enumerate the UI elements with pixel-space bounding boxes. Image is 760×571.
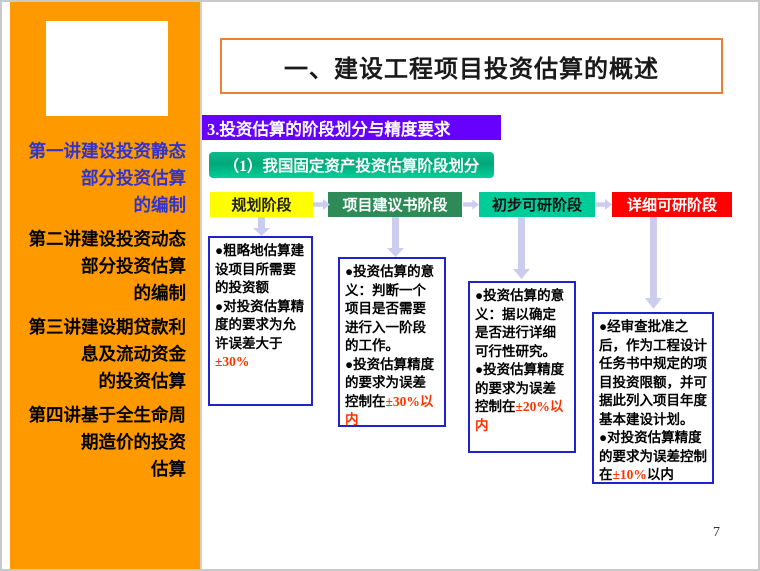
arrow-down-icon-3 [513, 217, 530, 279]
detail-line: ●对投资估算精度的要求为允许误差大于±30% [215, 298, 306, 372]
tolerance-value: ±10% [613, 467, 647, 482]
detail-line: ●投资估算精度的要求为误差控制在±20%以内 [475, 361, 569, 435]
stage-box-preliminary-study[interactable]: 初步可研阶段 [479, 192, 595, 217]
sidebar: 第一讲建设投资静态 部分投资估算 的编制 第二讲建设投资动态 部分投资估算 的编… [10, 2, 200, 571]
slide-title-box: 一、建设工程项目投资估算的概述 [220, 38, 723, 94]
section-heading-label: 3.投资估算的阶段划分与精度要求 [207, 116, 450, 140]
slide-content: 一、建设工程项目投资估算的概述 3.投资估算的阶段划分与精度要求 （1）我国固定… [202, 2, 758, 569]
arrow-down-icon-2 [387, 217, 404, 257]
arrow-down-icon-4 [645, 217, 662, 309]
arrow-right-icon-1 [313, 199, 330, 210]
detail-line: ●对投资估算精度的要求为误差控制在±10%以内 [599, 429, 707, 485]
arrow-right-icon-3 [595, 199, 612, 210]
stage-box-proposal[interactable]: 项目建议书阶段 [328, 192, 462, 217]
section-heading-banner: 3.投资估算的阶段划分与精度要求 [202, 115, 501, 140]
stage-box-planning[interactable]: 规划阶段 [210, 192, 313, 217]
detail-line: ●经审查批准之后，作为工程设计任务书中规定的项目投资限额，并可据此列入项目年度基… [599, 318, 707, 429]
detail-box-proposal: ●投资估算的意义：判断一个项目是否需要进行入一阶段的工作。 ●投资估算精度的要求… [338, 257, 446, 427]
tolerance-value: ±20% [516, 399, 550, 414]
tolerance-value: ±30% [386, 394, 420, 409]
detail-line: ●投资估算精度的要求为误差控制在±30%以内 [345, 356, 439, 430]
detail-line: ●粗略地估算建设项目所需要的投资额 [215, 242, 306, 298]
page-number: 7 [713, 525, 720, 541]
logo-placeholder [46, 21, 168, 116]
presentation-slide: 第一讲建设投资静态 部分投资估算 的编制 第二讲建设投资动态 部分投资估算 的编… [0, 0, 760, 571]
stage-box-detailed-study[interactable]: 详细可研阶段 [612, 192, 732, 217]
detail-line: ●投资估算的意义：据以确定是否进行详细可行性研究。 [475, 287, 569, 361]
detail-line: ●投资估算的意义：判断一个项目是否需要进行入一阶段的工作。 [345, 263, 439, 356]
detail-box-planning: ●粗略地估算建设项目所需要的投资额 ●对投资估算精度的要求为允许误差大于±30% [208, 236, 313, 406]
detail-box-preliminary-study: ●投资估算的意义：据以确定是否进行详细可行性研究。 ●投资估算精度的要求为误差控… [468, 281, 576, 453]
table-of-contents: 第一讲建设投资静态 部分投资估算 的编制 第二讲建设投资动态 部分投资估算 的编… [10, 138, 200, 490]
sidebar-item-lecture-1[interactable]: 第一讲建设投资静态 部分投资估算 的编制 [10, 138, 200, 219]
sidebar-item-lecture-3[interactable]: 第三讲建设期贷款利 息及流动资金 的投资估算 [10, 314, 200, 395]
arrow-down-icon-1 [253, 217, 270, 236]
arrow-right-icon-2 [463, 199, 479, 210]
sidebar-item-lecture-4[interactable]: 第四讲基于全生命周 期造价的投资 估算 [10, 402, 200, 483]
sidebar-item-lecture-2[interactable]: 第二讲建设投资动态 部分投资估算 的编制 [10, 226, 200, 307]
subsection-heading-label: （1）我国固定资产投资估算阶段划分 [224, 154, 480, 176]
page-title: 一、建设工程项目投资估算的概述 [284, 49, 659, 84]
subsection-heading-banner: （1）我国固定资产投资估算阶段划分 [209, 152, 494, 178]
detail-box-detailed-study: ●经审查批准之后，作为工程设计任务书中规定的项目投资限额，并可据此列入项目年度基… [592, 312, 714, 484]
tolerance-value: ±30% [215, 354, 249, 369]
